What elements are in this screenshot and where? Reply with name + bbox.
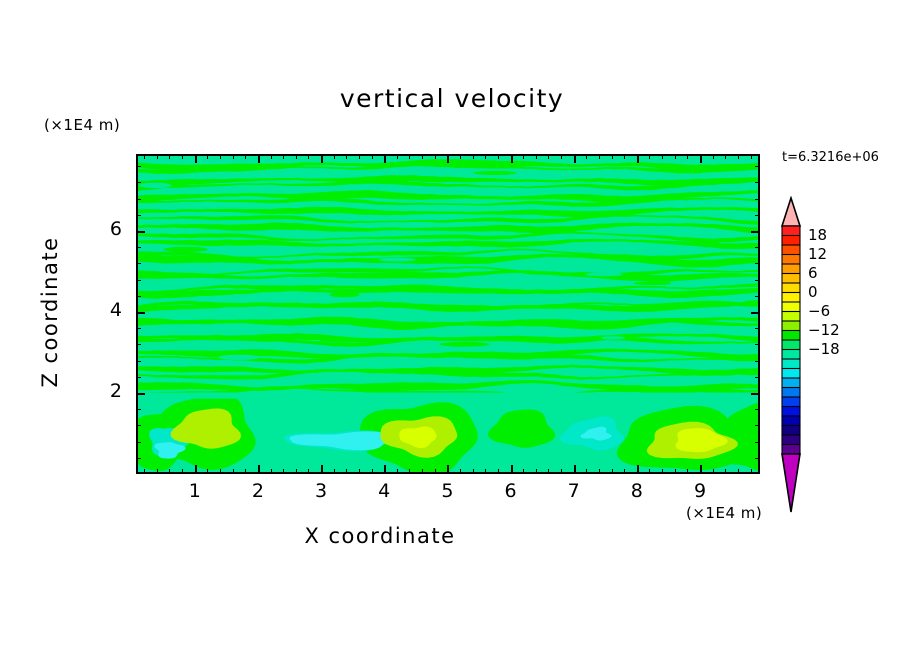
x-tick-minor: [548, 469, 549, 474]
x-tick-major-top-6: [511, 154, 513, 163]
y-tick-major-4: [136, 312, 145, 314]
colorbar-band-19: [782, 407, 800, 417]
y-tick-label-2: 2: [82, 380, 122, 402]
x-tick-minor: [334, 469, 335, 474]
colorbar-band-15: [782, 369, 800, 379]
colorbar-band-4: [782, 264, 800, 274]
contour-plot-area[interactable]: [136, 154, 760, 474]
wave-lens-5: [140, 343, 170, 346]
x-tick-minor-top: [473, 154, 474, 159]
x-tick-minor-top: [460, 154, 461, 159]
colorbar-band-20: [782, 416, 800, 426]
y-tick-minor: [136, 280, 141, 281]
x-tick-major-6: [511, 465, 513, 474]
y-tick-minor-right: [755, 458, 760, 459]
colorbar-tick-label-0: 18: [808, 226, 827, 244]
y-tick-minor: [136, 377, 141, 378]
x-tick-minor: [738, 469, 739, 474]
y-tick-minor: [136, 296, 141, 297]
y-tick-minor: [136, 344, 141, 345]
y-tick-major-6: [136, 231, 145, 233]
x-tick-minor: [233, 469, 234, 474]
wave-lens-9: [585, 272, 622, 276]
colorbar-band-22: [782, 435, 800, 445]
x-tick-minor-top: [612, 154, 613, 159]
x-tick-minor: [473, 469, 474, 474]
colorbar-band-1: [782, 236, 800, 246]
y-tick-minor-right: [755, 247, 760, 248]
x-tick-minor: [397, 469, 398, 474]
x-tick-minor-top: [751, 154, 752, 159]
x-tick-minor: [169, 469, 170, 474]
x-tick-minor-top: [233, 154, 234, 159]
colorbar-tick-label-6: −18: [808, 340, 840, 358]
y-tick-minor: [136, 263, 141, 264]
colorbar-tick-label-3: 0: [808, 283, 818, 301]
y-tick-minor: [136, 328, 141, 329]
x-tick-major-top-2: [258, 154, 260, 163]
x-tick-minor-top: [144, 154, 145, 159]
colorbar-band-17: [782, 388, 800, 398]
x-tick-minor: [144, 469, 145, 474]
y-tick-minor: [136, 458, 141, 459]
x-tick-minor: [409, 469, 410, 474]
y-tick-minor-right: [755, 442, 760, 443]
wave-lens-14: [439, 342, 489, 347]
colorbar-band-9: [782, 312, 800, 322]
x-tick-minor: [245, 469, 246, 474]
x-tick-minor: [485, 469, 486, 474]
x-tick-minor-top: [561, 154, 562, 159]
x-tick-minor: [220, 469, 221, 474]
x-tick-minor-top: [548, 154, 549, 159]
x-tick-minor-top: [725, 154, 726, 159]
colorbar-under-arrow: [782, 454, 800, 512]
y-tick-minor: [136, 442, 141, 443]
colorbar-tick-label-1: 12: [808, 245, 827, 263]
wave-lens-3: [634, 281, 671, 285]
x-tick-minor-top: [498, 154, 499, 159]
colorbar-band-16: [782, 378, 800, 388]
x-tick-minor: [536, 469, 537, 474]
x-tick-minor-top: [662, 154, 663, 159]
x-tick-label-1: 1: [175, 480, 215, 502]
y-tick-minor: [136, 247, 141, 248]
x-tick-label-3: 3: [301, 480, 341, 502]
y-tick-minor: [136, 199, 141, 200]
x-tick-minor-top: [334, 154, 335, 159]
y-tick-minor-right: [755, 166, 760, 167]
x-tick-minor: [460, 469, 461, 474]
wave-lens-13: [601, 336, 625, 339]
x-tick-minor-top: [409, 154, 410, 159]
x-axis-units: (×1E4 m): [686, 504, 762, 522]
timestamp-annotation: t=6.3216e+06: [782, 150, 879, 165]
y-tick-minor-right: [755, 328, 760, 329]
x-tick-minor: [662, 469, 663, 474]
x-tick-minor-top: [346, 154, 347, 159]
y-tick-minor-right: [755, 296, 760, 297]
colorbar-band-0: [782, 226, 800, 236]
x-tick-minor-top: [599, 154, 600, 159]
page-title: vertical velocity: [0, 84, 904, 113]
x-tick-minor: [435, 469, 436, 474]
wave-lens-10: [473, 171, 516, 175]
y-tick-label-4: 4: [82, 299, 122, 321]
y-tick-label-6: 6: [82, 218, 122, 240]
x-tick-minor-top: [738, 154, 739, 159]
colorbar-band-5: [782, 274, 800, 284]
x-tick-minor: [157, 469, 158, 474]
x-tick-minor-top: [713, 154, 714, 159]
x-tick-minor: [359, 469, 360, 474]
contour-field: [138, 156, 758, 472]
x-tick-minor-top: [422, 154, 423, 159]
x-tick-minor: [271, 469, 272, 474]
x-tick-minor: [561, 469, 562, 474]
x-tick-major-1: [195, 465, 197, 474]
wave-lens-2: [378, 258, 415, 262]
colorbar-band-11: [782, 331, 800, 341]
x-tick-minor-top: [169, 154, 170, 159]
y-tick-minor-right: [755, 377, 760, 378]
x-tick-major-top-5: [447, 154, 449, 163]
x-tick-minor: [599, 469, 600, 474]
x-tick-minor: [308, 469, 309, 474]
colorbar-band-6: [782, 283, 800, 293]
y-tick-minor-right: [755, 409, 760, 410]
colorbar-band-21: [782, 426, 800, 436]
colorbar-band-14: [782, 359, 800, 369]
x-tick-major-top-8: [637, 154, 639, 163]
y-tick-major-right-2: [751, 393, 760, 395]
wave-lens-4: [320, 338, 364, 342]
x-tick-minor: [725, 469, 726, 474]
colorbar-tick-label-2: 6: [808, 264, 818, 282]
x-tick-minor: [283, 469, 284, 474]
x-tick-label-5: 5: [427, 480, 467, 502]
x-tick-minor-top: [586, 154, 587, 159]
x-axis-label: X coordinate: [0, 524, 760, 548]
x-tick-minor-top: [485, 154, 486, 159]
colorbar-band-12: [782, 340, 800, 350]
x-tick-minor: [372, 469, 373, 474]
x-tick-minor-top: [283, 154, 284, 159]
interface-band: [138, 393, 758, 399]
x-tick-minor-top: [687, 154, 688, 159]
x-tick-minor: [296, 469, 297, 474]
wave-lens-8: [164, 247, 208, 252]
wave-lens-15: [469, 307, 489, 311]
x-tick-minor: [586, 469, 587, 474]
wave-lens-6: [150, 282, 168, 287]
x-tick-major-top-7: [574, 154, 576, 163]
colorbar-band-10: [782, 321, 800, 331]
x-tick-minor-top: [536, 154, 537, 159]
x-tick-minor-top: [649, 154, 650, 159]
y-axis-label: Z coordinate: [38, 202, 62, 422]
colorbar-band-2: [782, 245, 800, 255]
x-tick-minor-top: [308, 154, 309, 159]
colorbar-band-3: [782, 255, 800, 265]
x-tick-minor-top: [675, 154, 676, 159]
colorbar-tick-label-4: −6: [808, 302, 830, 320]
x-tick-minor: [687, 469, 688, 474]
x-tick-minor-top: [624, 154, 625, 159]
x-tick-minor: [422, 469, 423, 474]
x-tick-minor: [207, 469, 208, 474]
x-tick-minor-top: [372, 154, 373, 159]
wave-lens-0: [218, 355, 260, 360]
y-tick-minor: [136, 361, 141, 362]
y-tick-minor: [136, 409, 141, 410]
colorbar-band-8: [782, 302, 800, 312]
colorbar-band-18: [782, 397, 800, 407]
x-tick-minor: [649, 469, 650, 474]
colorbar-over-arrow: [782, 198, 800, 226]
y-tick-minor-right: [755, 280, 760, 281]
x-tick-minor: [612, 469, 613, 474]
y-tick-minor-right: [755, 361, 760, 362]
x-tick-minor-top: [220, 154, 221, 159]
y-tick-minor-right: [755, 215, 760, 216]
x-tick-minor-top: [182, 154, 183, 159]
x-tick-minor-top: [207, 154, 208, 159]
x-tick-minor-top: [157, 154, 158, 159]
y-tick-minor-right: [755, 425, 760, 426]
x-tick-major-7: [574, 465, 576, 474]
colorbar-band-13: [782, 350, 800, 360]
x-tick-major-top-1: [195, 154, 197, 163]
x-tick-label-2: 2: [238, 480, 278, 502]
x-tick-major-2: [258, 465, 260, 474]
y-tick-minor: [136, 425, 141, 426]
x-tick-minor: [624, 469, 625, 474]
y-tick-minor-right: [755, 263, 760, 264]
colorbar-band-7: [782, 293, 800, 303]
y-tick-minor-right: [755, 344, 760, 345]
x-tick-label-7: 7: [554, 480, 594, 502]
x-tick-major-3: [321, 465, 323, 474]
x-tick-minor-top: [523, 154, 524, 159]
y-tick-minor-right: [755, 199, 760, 200]
y-tick-major-2: [136, 393, 145, 395]
x-tick-major-8: [637, 465, 639, 474]
wave-lens-11: [330, 292, 360, 297]
x-tick-minor-top: [271, 154, 272, 159]
x-tick-major-5: [447, 465, 449, 474]
x-tick-major-top-9: [700, 154, 702, 163]
x-tick-minor: [346, 469, 347, 474]
x-tick-minor-top: [397, 154, 398, 159]
x-tick-minor-top: [359, 154, 360, 159]
x-tick-minor-top: [245, 154, 246, 159]
x-tick-minor: [675, 469, 676, 474]
y-tick-major-right-6: [751, 231, 760, 233]
x-tick-major-4: [384, 465, 386, 474]
x-tick-minor: [751, 469, 752, 474]
x-tick-minor: [498, 469, 499, 474]
x-tick-minor: [182, 469, 183, 474]
colorbar-band-23: [782, 445, 800, 455]
y-tick-minor-right: [755, 182, 760, 183]
y-axis-units: (×1E4 m): [44, 116, 120, 134]
x-tick-label-9: 9: [680, 480, 720, 502]
x-tick-minor: [713, 469, 714, 474]
x-tick-label-8: 8: [617, 480, 657, 502]
x-tick-minor: [523, 469, 524, 474]
y-tick-minor: [136, 182, 141, 183]
colorbar-tick-label-5: −12: [808, 321, 840, 339]
wave-lens-1: [139, 183, 172, 188]
y-tick-major-right-4: [751, 312, 760, 314]
x-tick-major-9: [700, 465, 702, 474]
y-tick-minor: [136, 215, 141, 216]
x-tick-minor-top: [296, 154, 297, 159]
x-tick-minor-top: [435, 154, 436, 159]
wave-lens-7: [235, 314, 253, 319]
x-tick-label-6: 6: [491, 480, 531, 502]
y-tick-minor: [136, 166, 141, 167]
x-tick-major-top-4: [384, 154, 386, 163]
x-tick-label-4: 4: [364, 480, 404, 502]
colorbar[interactable]: 181260−6−12−18: [770, 196, 820, 516]
x-tick-major-top-3: [321, 154, 323, 163]
